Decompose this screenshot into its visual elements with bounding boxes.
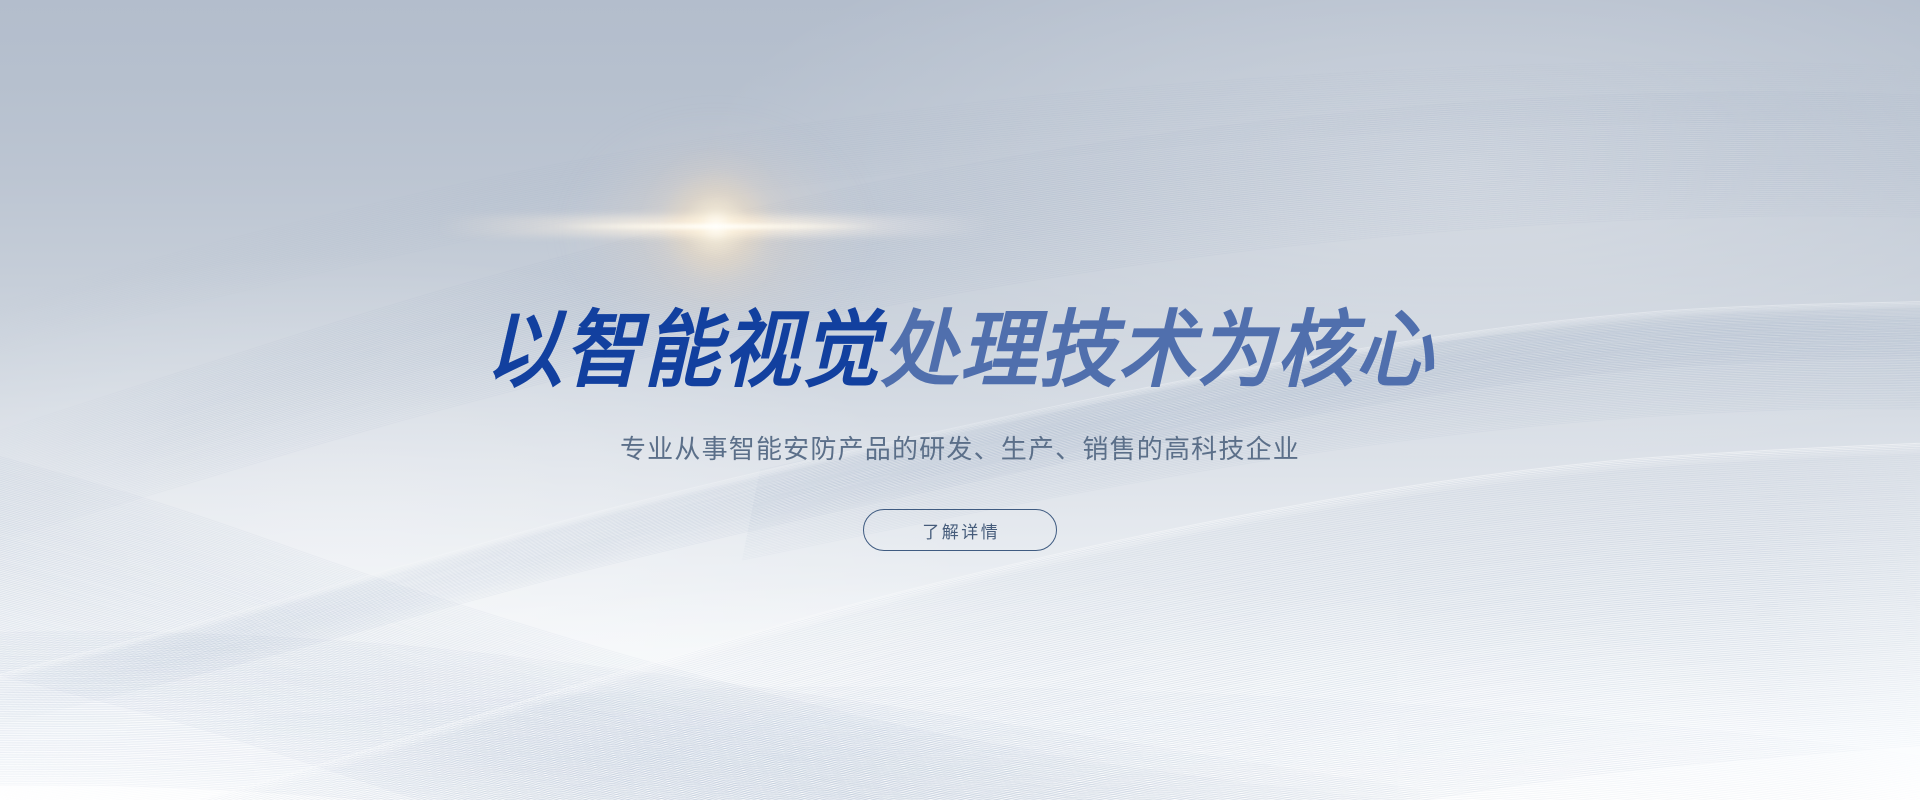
headline-segment-secondary: 处理技术为核心	[881, 301, 1435, 399]
headline-segment-primary: 以智能视觉	[485, 301, 881, 399]
hero-subtitle: 专业从事智能安防产品的研发、生产、销售的高科技企业	[0, 433, 1920, 468]
learn-more-button[interactable]: 了解详情	[863, 509, 1057, 551]
background-sheen	[0, 0, 1920, 800]
wave-line-pattern	[0, 0, 1920, 800]
lens-flare-streak	[436, 216, 996, 236]
hero-banner: 以智能视觉处理技术为核心 专业从事智能安防产品的研发、生产、销售的高科技企业 了…	[0, 0, 1920, 800]
page-title: 以智能视觉处理技术为核心	[77, 308, 1843, 392]
lens-flare-streak-inner	[551, 224, 881, 229]
lens-flare-warm-halo	[566, 116, 866, 346]
lens-flare-core	[641, 151, 791, 301]
hero-content: 以智能视觉处理技术为核心 专业从事智能安防产品的研发、生产、销售的高科技企业 了…	[0, 0, 1920, 800]
cta-container: 了解详情	[0, 509, 1920, 551]
